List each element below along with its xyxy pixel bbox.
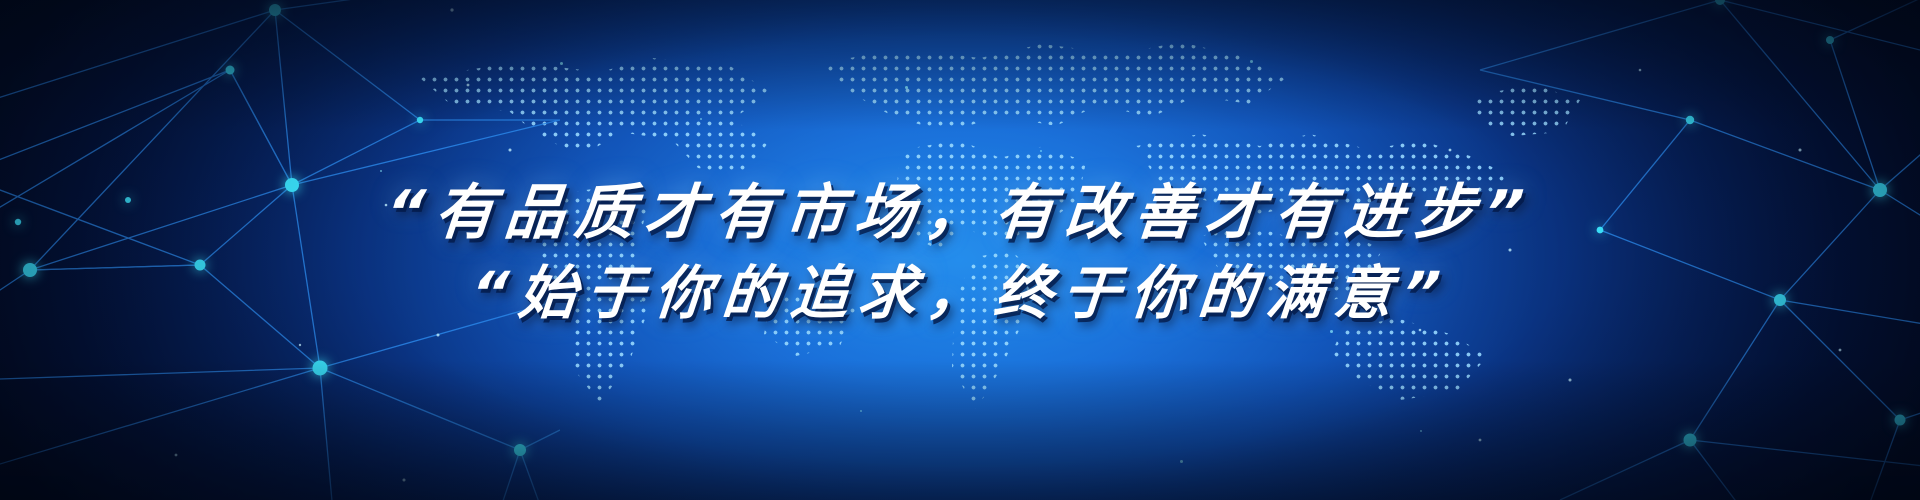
headline-line-1: “有品质才有市场，有改善才有进步”	[383, 178, 1536, 249]
headline-block: “有品质才有市场，有改善才有进步” “始于你的追求，终于你的满意”	[0, 0, 1920, 500]
promo-banner: “有品质才有市场，有改善才有进步” “始于你的追求，终于你的满意”	[0, 0, 1920, 500]
headline-line-2: “始于你的追求，终于你的满意”	[468, 259, 1453, 327]
